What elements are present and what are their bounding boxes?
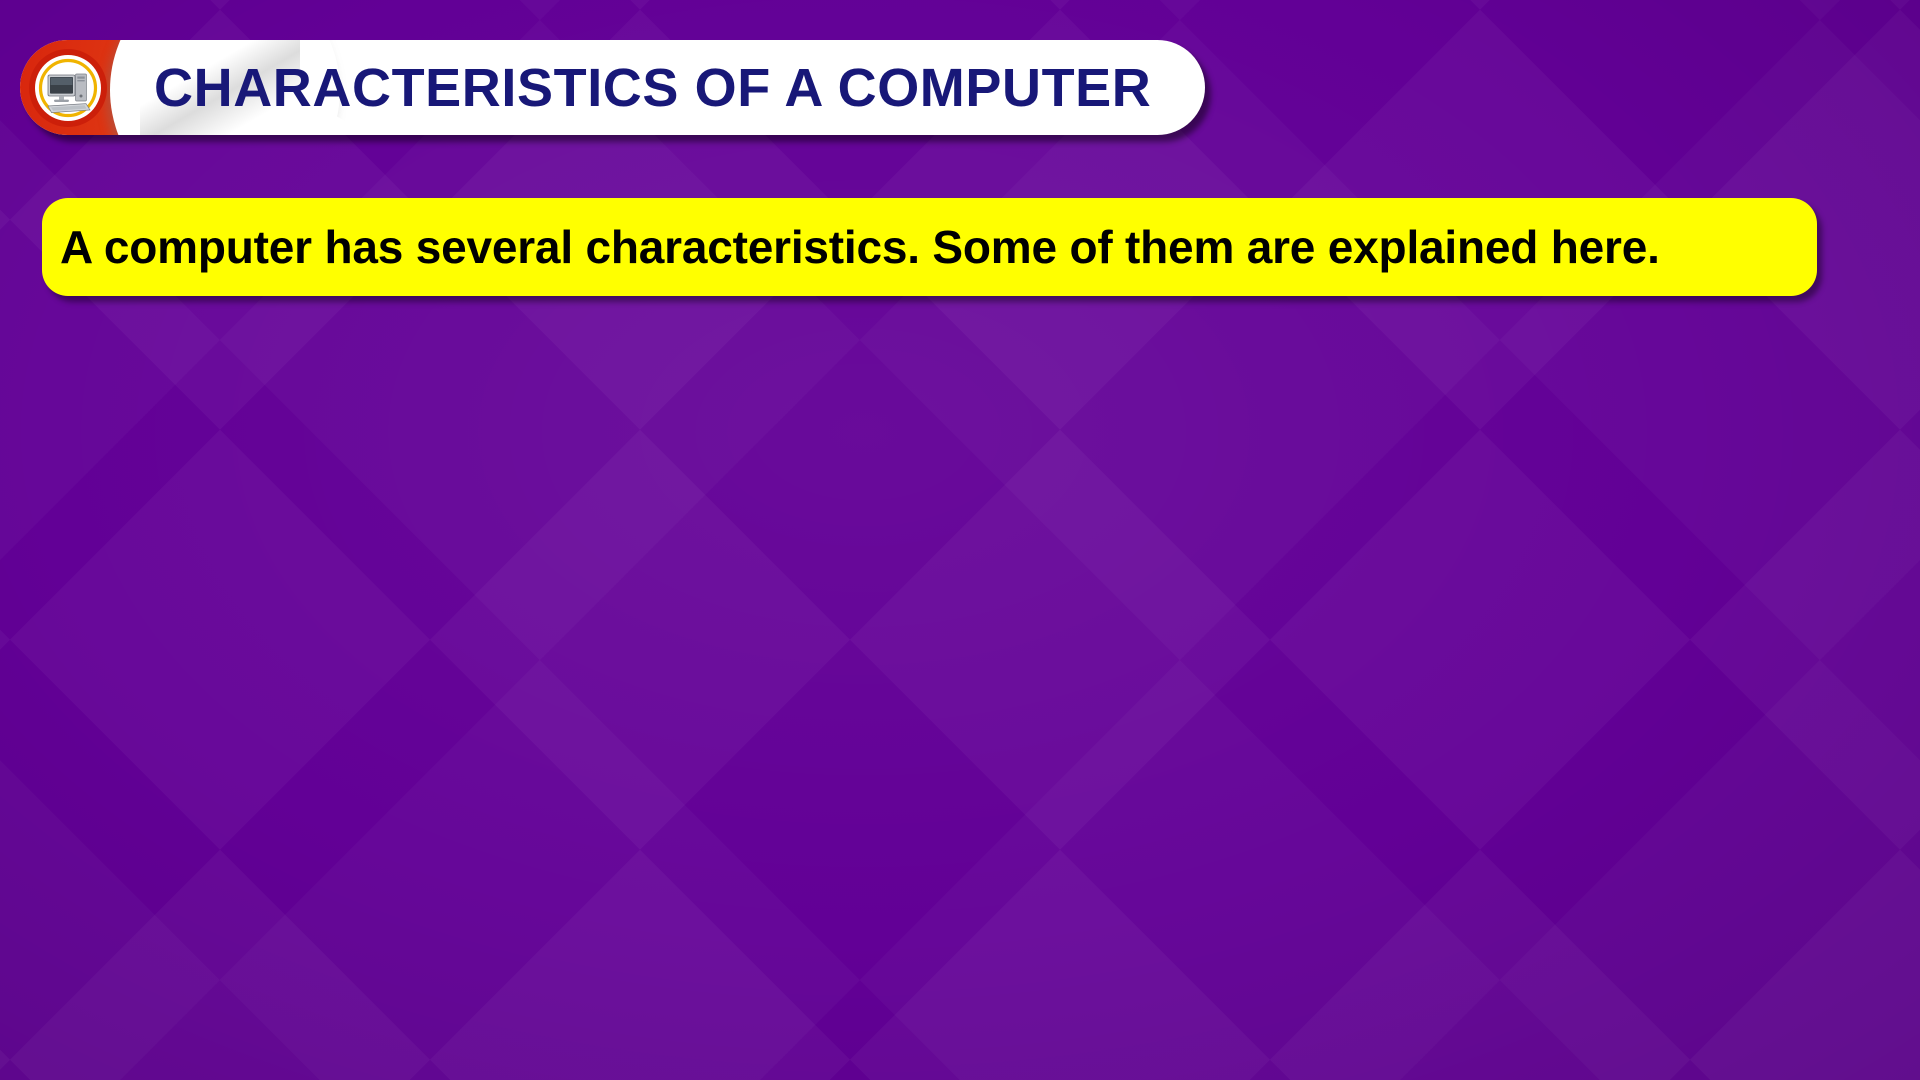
intro-callout: A computer has several characteristics. …: [42, 198, 1817, 296]
background-vignette: [0, 0, 1920, 1080]
slide-title-bar: CHARACTERISTICS OF A COMPUTER: [20, 40, 1205, 135]
intro-callout-text: A computer has several characteristics. …: [60, 220, 1660, 274]
desktop-computer-icon: [28, 48, 108, 128]
page-title: CHARACTERISTICS OF A COMPUTER: [154, 40, 1151, 135]
slide-canvas: CHARACTERISTICS OF A COMPUTER A computer…: [0, 0, 1920, 1080]
